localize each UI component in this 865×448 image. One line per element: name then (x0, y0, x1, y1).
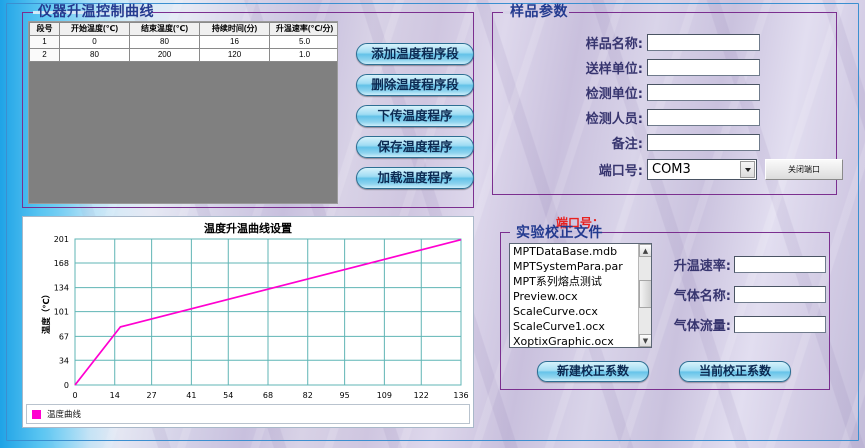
gas-flow-row: 气体流量: (659, 315, 826, 334)
svg-text:41: 41 (186, 391, 196, 400)
table-row[interactable]: 2 80 200 120 1.0 (30, 49, 339, 62)
gas-name-input[interactable] (734, 286, 826, 303)
calibration-group-title: 实验校正文件 (511, 222, 608, 242)
calibration-files-group: 实验校正文件 MPTDataBase.mdb MPTSystemPara.par… (500, 232, 830, 390)
table-row[interactable]: 1 0 80 16 5.0 (30, 36, 339, 49)
svg-text:34: 34 (59, 356, 69, 365)
temperature-curve-chart-panel: 温度升温曲线设置 0142741546882951091221360346710… (22, 216, 474, 428)
scroll-up-icon[interactable]: ▲ (639, 244, 652, 257)
cell-duration[interactable]: 120 (200, 49, 270, 62)
column-header-segment: 段号 (30, 23, 60, 36)
legend-color-swatch (32, 410, 41, 419)
chevron-down-icon[interactable] (740, 161, 755, 178)
heating-rate-row: 升温速率: (659, 255, 826, 274)
table-header-row: 段号 开始温度(℃) 结束温度(℃) 持续时间(分) 升温速率(℃/分) (30, 23, 339, 36)
load-temperature-program-button[interactable]: 加载温度程序 (356, 167, 474, 189)
svg-text:82: 82 (303, 391, 313, 400)
tester-row: 检测人员: (555, 108, 760, 127)
port-selected-value: COM3 (652, 162, 691, 177)
cell-segment[interactable]: 1 (30, 36, 60, 49)
svg-text:0: 0 (64, 381, 69, 390)
submitting-unit-row: 送样单位: (555, 58, 760, 77)
heating-rate-input[interactable] (734, 256, 826, 273)
svg-text:95: 95 (340, 391, 350, 400)
svg-text:101: 101 (54, 308, 69, 317)
column-header-duration: 持续时间(分) (200, 23, 270, 36)
cell-rate[interactable]: 5.0 (270, 36, 339, 49)
instrument-group-title: 仪器升温控制曲线 (33, 1, 159, 21)
svg-text:168: 168 (54, 259, 69, 268)
svg-text:68: 68 (263, 391, 273, 400)
add-temperature-segment-button[interactable]: 添加温度程序段 (356, 43, 474, 65)
list-item[interactable]: ScaleCurve1.ocx (510, 319, 651, 334)
remark-input[interactable] (647, 134, 760, 151)
port-row: 端口号: COM3 关闭端口 (555, 159, 843, 180)
temperature-program-table[interactable]: 段号 开始温度(℃) 结束温度(℃) 持续时间(分) 升温速率(℃/分) 1 0… (29, 22, 338, 62)
gas-name-row: 气体名称: (659, 285, 826, 304)
calibration-file-listbox[interactable]: MPTDataBase.mdb MPTSystemPara.par MPT系列熔… (509, 243, 652, 348)
new-calibration-coefficient-button[interactable]: 新建校正系数 (537, 361, 649, 382)
cell-rate[interactable]: 1.0 (270, 49, 339, 62)
chart-legend: 温度曲线 (26, 404, 470, 424)
sample-group-title: 样品参数 (505, 1, 573, 21)
current-calibration-coefficient-button[interactable]: 当前校正系数 (679, 361, 791, 382)
submitting-unit-input[interactable] (647, 59, 760, 76)
testing-unit-label: 检测单位: (555, 83, 643, 102)
column-header-end-temp: 结束温度(℃) (130, 23, 200, 36)
listbox-scrollbar[interactable]: ▲ ▼ (638, 244, 651, 347)
submitting-unit-label: 送样单位: (555, 58, 643, 77)
svg-text:54: 54 (223, 391, 233, 400)
delete-temperature-segment-button[interactable]: 删除温度程序段 (356, 74, 474, 96)
list-item[interactable]: ScaleCurve.ocx (510, 304, 651, 319)
scrollbar-thumb[interactable] (639, 280, 652, 308)
svg-text:134: 134 (54, 284, 69, 293)
cell-start-temp[interactable]: 0 (60, 36, 130, 49)
remark-label: 备注: (555, 133, 643, 152)
cell-start-temp[interactable]: 80 (60, 49, 130, 62)
sample-name-row: 样品名称: (555, 33, 760, 52)
svg-text:136: 136 (453, 391, 468, 400)
column-header-rate: 升温速率(℃/分) (270, 23, 339, 36)
cell-end-temp[interactable]: 200 (130, 49, 200, 62)
list-item[interactable]: MPTDataBase.mdb (510, 244, 651, 259)
svg-text:14: 14 (110, 391, 120, 400)
svg-text:109: 109 (377, 391, 392, 400)
remark-row: 备注: (555, 133, 760, 152)
svg-text:122: 122 (414, 391, 429, 400)
cell-segment[interactable]: 2 (30, 49, 60, 62)
sample-parameters-group: 样品参数 样品名称: 送样单位: 检测单位: 检测人员: 备注: 端口号: CO… (492, 12, 837, 195)
gas-flow-input[interactable] (734, 316, 826, 333)
tester-label: 检测人员: (555, 108, 643, 127)
svg-text:27: 27 (147, 391, 157, 400)
sample-name-input[interactable] (647, 34, 760, 51)
testing-unit-input[interactable] (647, 84, 760, 101)
cell-end-temp[interactable]: 80 (130, 36, 200, 49)
cell-duration[interactable]: 16 (200, 36, 270, 49)
svg-text:201: 201 (54, 235, 69, 244)
temperature-curve-plot: 0142741546882951091221360346710113416820… (23, 217, 473, 427)
sample-name-label: 样品名称: (555, 33, 643, 52)
scroll-down-icon[interactable]: ▼ (639, 334, 652, 347)
list-item[interactable]: Preview.ocx (510, 289, 651, 304)
port-label: 端口号: (555, 160, 643, 179)
save-temperature-program-button[interactable]: 保存温度程序 (356, 136, 474, 158)
testing-unit-row: 检测单位: (555, 83, 760, 102)
temperature-program-table-container[interactable]: 段号 开始温度(℃) 结束温度(℃) 持续时间(分) 升温速率(℃/分) 1 0… (28, 21, 338, 204)
heating-rate-label: 升温速率: (659, 255, 731, 274)
svg-text:0: 0 (72, 391, 77, 400)
gas-flow-label: 气体流量: (659, 315, 731, 334)
list-item[interactable]: MPT系列熔点测试 (510, 274, 651, 289)
svg-text:67: 67 (59, 332, 69, 341)
port-select[interactable]: COM3 (647, 159, 757, 180)
instrument-control-group: 仪器升温控制曲线 段号 开始温度(℃) 结束温度(℃) 持续时间(分) 升温速率… (22, 12, 474, 208)
download-temperature-program-button[interactable]: 下传温度程序 (356, 105, 474, 127)
gas-name-label: 气体名称: (659, 285, 731, 304)
tester-input[interactable] (647, 109, 760, 126)
legend-label: 温度曲线 (47, 408, 81, 420)
close-port-button[interactable]: 关闭端口 (765, 159, 843, 180)
list-item[interactable]: XoptixGraphic.ocx (510, 334, 651, 348)
column-header-start-temp: 开始温度(℃) (60, 23, 130, 36)
svg-text:温度（℃）: 温度（℃） (41, 290, 52, 334)
list-item[interactable]: MPTSystemPara.par (510, 259, 651, 274)
